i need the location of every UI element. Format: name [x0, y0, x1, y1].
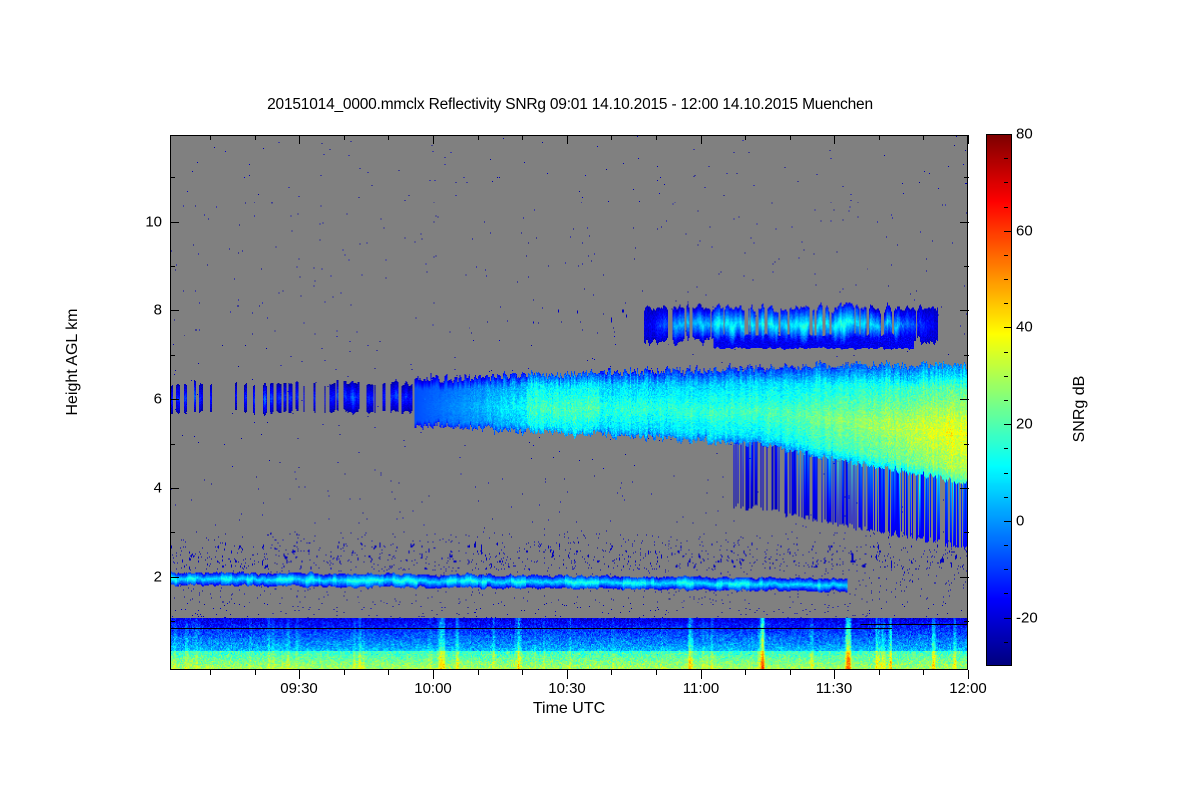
page-title: 20151014_0000.mmclx Reflectivity SNRg 09…: [0, 96, 1140, 114]
y-tick-minor: [170, 532, 175, 533]
colorbar-tick-label: 40: [1016, 319, 1033, 336]
x-tick-minor-top: [210, 135, 211, 140]
colorbar-tick-label: 20: [1016, 416, 1033, 433]
x-tick-major: [567, 670, 568, 679]
y-tick-major: [170, 310, 179, 311]
x-tick-minor-top: [745, 135, 746, 140]
y-tick-major: [170, 488, 179, 489]
colorbar-tick-label: 0: [1016, 513, 1024, 530]
radar-figure: 20151014_0000.mmclx Reflectivity SNRg 09…: [0, 0, 1200, 800]
colorbar-tick-label: 80: [1016, 126, 1033, 143]
x-tick-minor: [656, 670, 657, 675]
x-tick-label: 09:30: [280, 680, 318, 697]
x-tick-minor: [255, 670, 256, 675]
x-tick-minor-top: [923, 135, 924, 140]
x-tick-label: 10:00: [414, 680, 452, 697]
y-tick-major: [170, 399, 179, 400]
colorbar-tick-label: -20: [1016, 610, 1038, 627]
colorbar-tick-major: [1004, 521, 1011, 522]
y-tick-major-inner: [960, 310, 969, 311]
y-tick-label: 6: [154, 391, 162, 408]
y-tick-label: 8: [154, 302, 162, 319]
y-tick-minor-inner: [964, 177, 969, 178]
x-tick-minor-top: [344, 135, 345, 140]
plot-area[interactable]: [170, 135, 968, 670]
x-tick-minor: [745, 670, 746, 675]
x-tick-minor: [478, 670, 479, 675]
colorbar-tick-minor: [1004, 473, 1008, 474]
colorbar-tick-major: [1004, 424, 1011, 425]
x-tick-minor: [522, 670, 523, 675]
colorbar-label: SNRg dB: [1071, 309, 1089, 509]
x-tick-major: [433, 670, 434, 679]
reflectivity-heatmap: [171, 136, 967, 669]
colorbar[interactable]: [986, 134, 1012, 666]
x-tick-minor-top: [255, 135, 256, 140]
colorbar-tick-minor: [1004, 255, 1008, 256]
colorbar-tick-minor: [1004, 642, 1008, 643]
colorbar-tick-major: [1004, 134, 1011, 135]
colorbar-tick-minor: [1004, 182, 1008, 183]
x-tick-major-top: [701, 135, 702, 144]
colorbar-tick-minor: [1004, 352, 1008, 353]
x-tick-major: [299, 670, 300, 679]
x-tick-minor-top: [522, 135, 523, 140]
y-tick-major: [170, 222, 179, 223]
y-tick-minor-inner: [964, 355, 969, 356]
colorbar-tick-minor: [1004, 545, 1008, 546]
y-tick-minor: [170, 444, 175, 445]
colorbar-tick-major: [1004, 327, 1011, 328]
colorbar-tick-major: [1004, 231, 1011, 232]
x-tick-minor-top: [611, 135, 612, 140]
x-tick-minor: [611, 670, 612, 675]
colorbar-tick-minor: [1004, 569, 1008, 570]
x-tick-minor: [879, 670, 880, 675]
y-tick-label: 2: [154, 569, 162, 586]
y-tick-major-inner: [960, 488, 969, 489]
y-tick-major-inner: [960, 399, 969, 400]
x-tick-major-top: [834, 135, 835, 144]
x-tick-major-top: [968, 135, 969, 144]
x-tick-minor: [388, 670, 389, 675]
y-axis-label: Height AGL km: [64, 212, 82, 512]
colorbar-tick-minor: [1004, 400, 1008, 401]
y-tick-minor-inner: [964, 444, 969, 445]
colorbar-tick-minor: [1004, 497, 1008, 498]
y-tick-minor: [170, 621, 175, 622]
x-tick-minor-top: [388, 135, 389, 140]
x-axis-label: Time UTC: [170, 700, 968, 718]
y-tick-minor: [170, 266, 175, 267]
colorbar-tick-major: [1004, 618, 1011, 619]
y-tick-minor-inner: [964, 532, 969, 533]
x-tick-minor-top: [656, 135, 657, 140]
colorbar-tick-minor: [1004, 448, 1008, 449]
x-tick-minor: [210, 670, 211, 675]
x-tick-label: 11:30: [816, 680, 852, 697]
colorbar-tick-minor: [1004, 279, 1008, 280]
y-tick-major-inner: [960, 222, 969, 223]
y-tick-major: [170, 577, 179, 578]
x-tick-label: 10:30: [548, 680, 586, 697]
x-tick-label: 12:00: [949, 680, 987, 697]
x-tick-minor: [790, 670, 791, 675]
y-tick-label: 10: [145, 214, 162, 231]
y-tick-minor-inner: [964, 621, 969, 622]
x-tick-major-top: [567, 135, 568, 144]
colorbar-tick-minor: [1004, 158, 1008, 159]
colorbar-tick-minor: [1004, 303, 1008, 304]
y-tick-major-inner: [960, 577, 969, 578]
colorbar-tick-label: 60: [1016, 223, 1033, 240]
x-tick-minor-top: [879, 135, 880, 140]
x-tick-major: [834, 670, 835, 679]
colorbar-tick-minor: [1004, 207, 1008, 208]
x-tick-major: [968, 670, 969, 679]
y-tick-minor: [170, 355, 175, 356]
y-tick-minor: [170, 177, 175, 178]
x-tick-label: 11:00: [683, 680, 719, 697]
x-tick-major-top: [299, 135, 300, 144]
x-tick-minor-top: [478, 135, 479, 140]
x-tick-minor: [923, 670, 924, 675]
colorbar-tick-minor: [1004, 593, 1008, 594]
x-tick-major: [701, 670, 702, 679]
y-tick-minor-inner: [964, 266, 969, 267]
y-tick-label: 4: [154, 480, 162, 497]
x-tick-minor: [344, 670, 345, 675]
colorbar-tick-minor: [1004, 376, 1008, 377]
x-tick-major-top: [433, 135, 434, 144]
x-tick-minor-top: [790, 135, 791, 140]
